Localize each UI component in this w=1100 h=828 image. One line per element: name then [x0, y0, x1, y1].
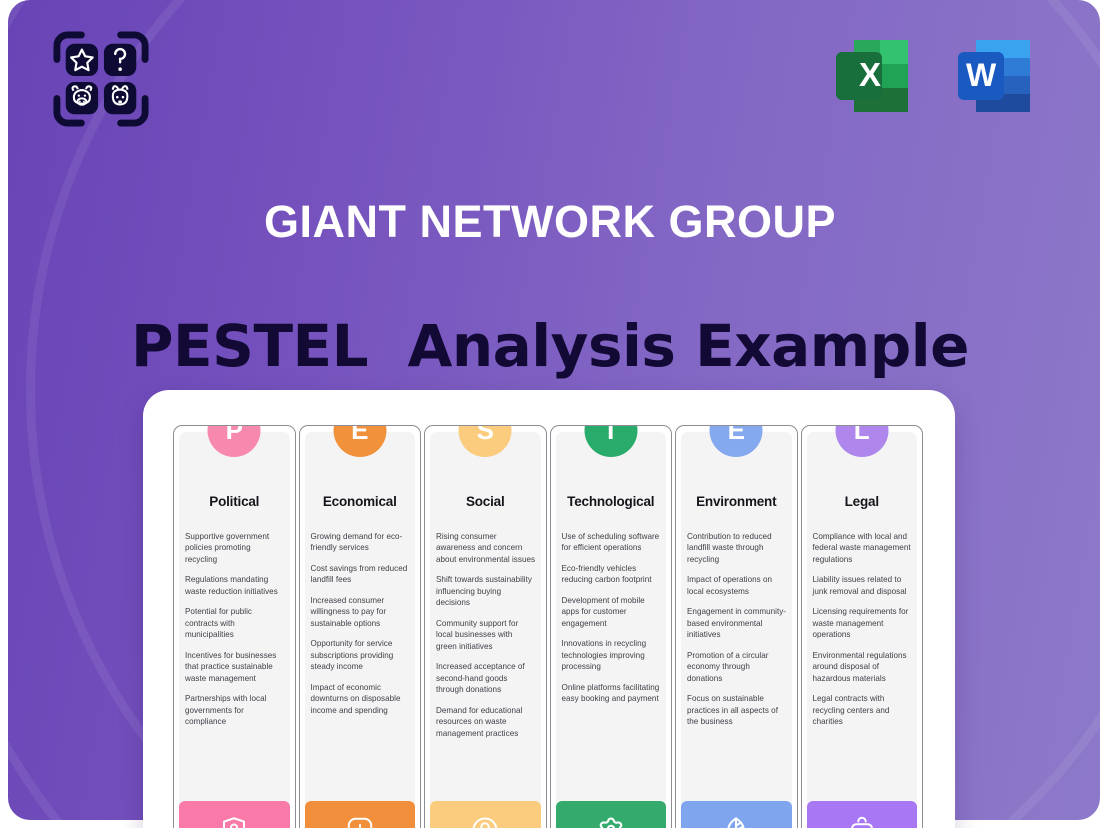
- pestel-column-social[interactable]: SSocialRising consumer awareness and con…: [424, 425, 547, 828]
- column-footer[interactable]: [556, 801, 667, 828]
- list-item: Regulations mandating waste reduction in…: [185, 574, 285, 597]
- list-item: Use of scheduling software for efficient…: [562, 531, 662, 554]
- list-item: Community support for local businesses w…: [436, 618, 536, 652]
- list-item: Environmental regulations around disposa…: [813, 650, 913, 684]
- column-item-list: Supportive government policies promoting…: [174, 509, 295, 828]
- list-item: Impact of economic downturns on disposab…: [311, 682, 411, 716]
- pestel-column-political[interactable]: PPoliticalSupportive government policies…: [173, 425, 296, 828]
- column-item-list: Contribution to reduced landfill waste t…: [676, 509, 797, 828]
- column-item-list: Use of scheduling software for efficient…: [551, 509, 672, 828]
- list-item: Liability issues related to junk removal…: [813, 574, 913, 597]
- svg-text:W: W: [966, 57, 997, 93]
- column-title: Economical: [300, 494, 421, 509]
- column-title: Social: [425, 494, 546, 509]
- giant-network-group-logo[interactable]: [52, 30, 150, 128]
- column-footer[interactable]: [430, 801, 541, 828]
- list-item: Compliance with local and federal waste …: [813, 531, 913, 565]
- person-circle-icon: [470, 815, 500, 828]
- column-footer[interactable]: [681, 801, 792, 828]
- pestel-column-technological[interactable]: TTechnologicalUse of scheduling software…: [550, 425, 673, 828]
- list-item: Supportive government policies promoting…: [185, 531, 285, 565]
- pestel-column-economical[interactable]: EEconomicalGrowing demand for eco-friend…: [299, 425, 422, 828]
- column-item-list: Compliance with local and federal waste …: [802, 509, 923, 828]
- bar-chart-icon: [345, 815, 375, 828]
- list-item: Incentives for businesses that practice …: [185, 650, 285, 684]
- dog-icon: [104, 82, 136, 114]
- excel-icon[interactable]: X: [824, 28, 920, 124]
- briefcase-icon: [847, 815, 877, 828]
- pestel-columns: PPoliticalSupportive government policies…: [173, 425, 925, 828]
- list-item: Rising consumer awareness and concern ab…: [436, 531, 536, 565]
- list-item: Partnerships with local governments for …: [185, 693, 285, 727]
- column-footer[interactable]: [305, 801, 416, 828]
- column-title: Technological: [551, 494, 672, 509]
- pestel-column-environment[interactable]: EEnvironmentContribution to reduced land…: [675, 425, 798, 828]
- page-title: GIANT NETWORK GROUP: [0, 196, 1100, 248]
- column-title: Political: [174, 494, 295, 509]
- list-item: Opportunity for service subscriptions pr…: [311, 638, 411, 672]
- list-item: Contribution to reduced landfill waste t…: [687, 531, 787, 565]
- list-item: Innovations in recycling technologies im…: [562, 638, 662, 672]
- list-item: Focus on sustainable practices in all as…: [687, 693, 787, 727]
- list-item: Legal contracts with recycling centers a…: [813, 693, 913, 727]
- list-item: Impact of operations on local ecosystems: [687, 574, 787, 597]
- leaf-icon: [721, 815, 751, 828]
- column-item-list: Rising consumer awareness and concern ab…: [425, 509, 546, 828]
- list-item: Demand for educational resources on wast…: [436, 705, 536, 739]
- list-item: Licensing requirements for waste managem…: [813, 606, 913, 640]
- svg-text:X: X: [859, 56, 881, 93]
- gear-icon: [596, 815, 626, 828]
- deck-subtitle: PESTEL Analysis Example: [0, 312, 1100, 380]
- shield-person-icon: [219, 815, 249, 828]
- pestel-board: PPoliticalSupportive government policies…: [143, 390, 955, 828]
- column-title: Legal: [802, 494, 923, 509]
- slide-canvas: X W GIANT NETWORK GROUP PESTEL Analysis …: [0, 0, 1100, 828]
- list-item: Cost savings from reduced landfill fees: [311, 563, 411, 586]
- list-item: Online platforms facilitating easy booki…: [562, 682, 662, 705]
- list-item: Shift towards sustainability influencing…: [436, 574, 536, 608]
- column-item-list: Growing demand for eco-friendly services…: [300, 509, 421, 828]
- list-item: Increased consumer willingness to pay fo…: [311, 595, 411, 629]
- pestel-column-legal[interactable]: LLegalCompliance with local and federal …: [801, 425, 924, 828]
- column-footer[interactable]: [807, 801, 918, 828]
- list-item: Engagement in community-based environmen…: [687, 606, 787, 640]
- list-item: Development of mobile apps for customer …: [562, 595, 662, 629]
- word-icon[interactable]: W: [946, 28, 1042, 124]
- list-item: Promotion of a circular economy through …: [687, 650, 787, 684]
- list-item: Eco-friendly vehicles reducing carbon fo…: [562, 563, 662, 586]
- column-title: Environment: [676, 494, 797, 509]
- column-footer[interactable]: [179, 801, 290, 828]
- list-item: Growing demand for eco-friendly services: [311, 531, 411, 554]
- list-item: Potential for public contracts with muni…: [185, 606, 285, 640]
- list-item: Increased acceptance of second-hand good…: [436, 661, 536, 695]
